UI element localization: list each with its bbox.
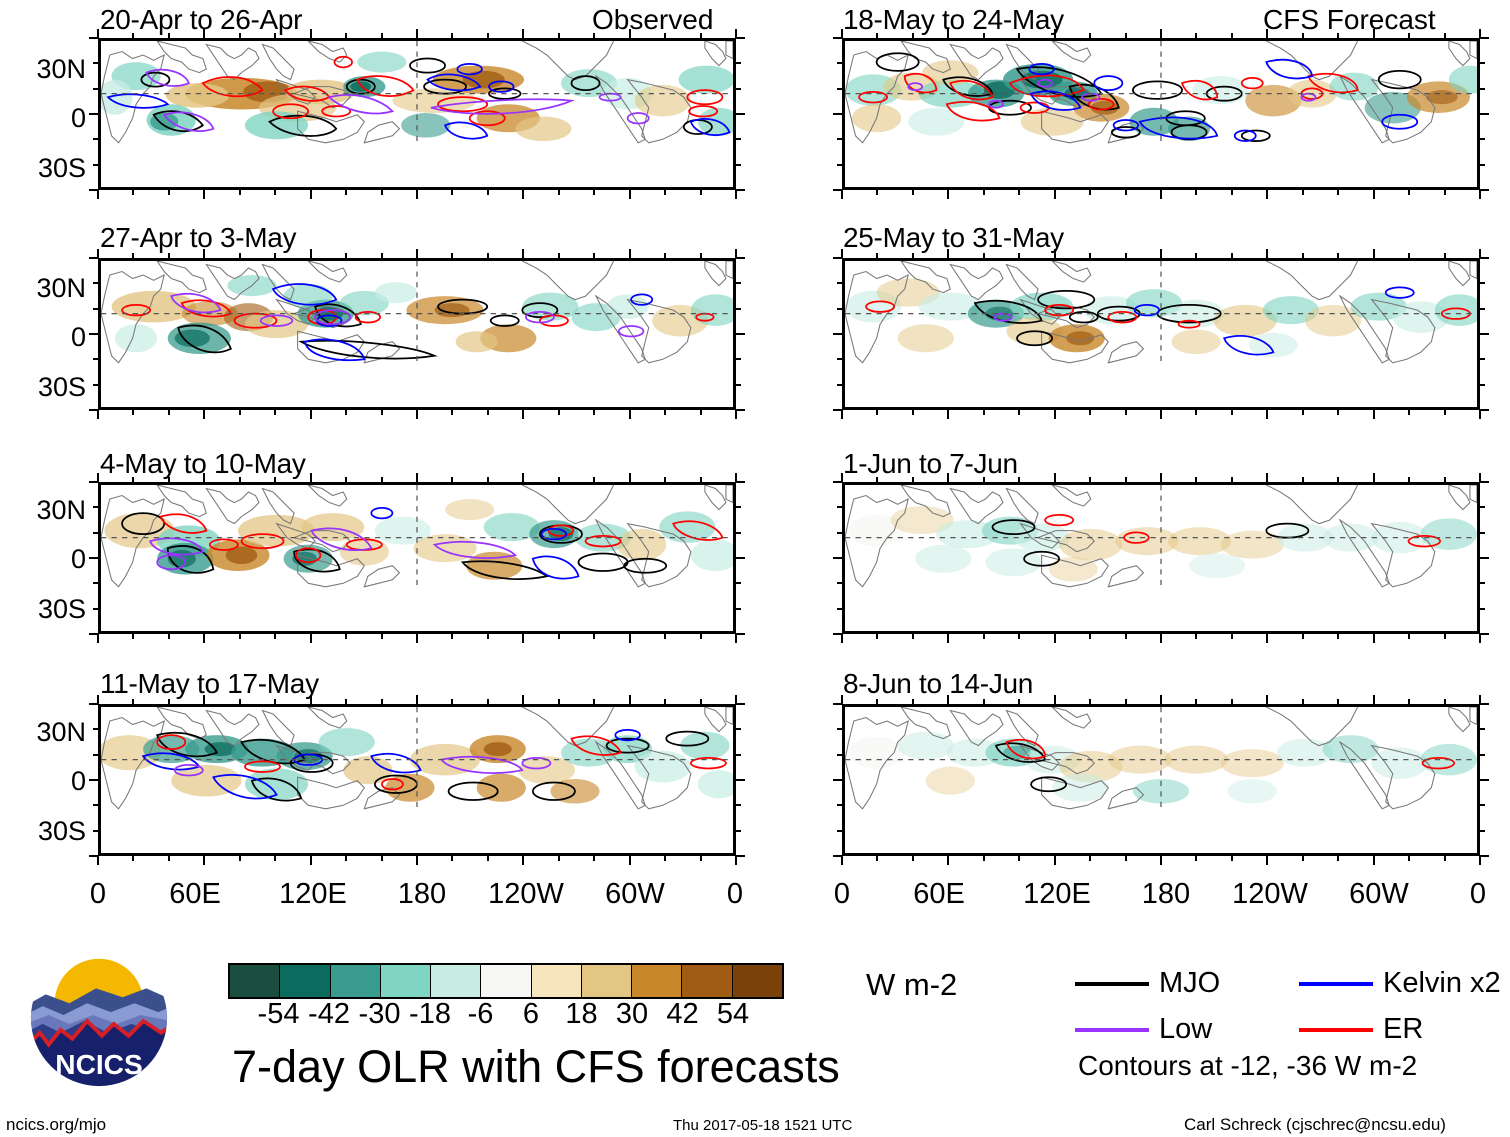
axis-tick bbox=[345, 856, 347, 861]
axis-tick bbox=[93, 754, 98, 756]
axis-tick bbox=[522, 190, 524, 199]
y-tick-30n-row2: 30N bbox=[8, 275, 86, 302]
axis-tick bbox=[700, 634, 702, 639]
axis-tick bbox=[983, 410, 985, 415]
axis-tick bbox=[381, 856, 383, 861]
axis-tick bbox=[168, 634, 170, 639]
axis-tick bbox=[1160, 695, 1162, 704]
axis-tick bbox=[841, 190, 843, 199]
x-tick-right-180: 180 bbox=[1126, 880, 1206, 909]
x-tick-right-60e: 60E bbox=[899, 880, 979, 909]
axis-tick bbox=[381, 477, 383, 482]
colorbar-tick-42: 42 bbox=[666, 1000, 698, 1029]
axis-tick bbox=[274, 477, 276, 482]
axis-tick bbox=[736, 703, 745, 705]
axis-tick bbox=[451, 253, 453, 258]
axis-tick bbox=[1480, 855, 1489, 857]
axis-tick bbox=[274, 634, 276, 639]
axis-tick bbox=[1160, 29, 1162, 38]
axis-tick bbox=[345, 33, 347, 38]
panel-title-fcst-1: 18-May to 24-May bbox=[843, 6, 1064, 34]
axis-tick bbox=[736, 582, 741, 584]
axis-tick bbox=[381, 634, 383, 639]
axis-tick bbox=[1408, 477, 1410, 482]
axis-tick bbox=[1480, 779, 1489, 781]
panel-title-obs-4: 11-May to 17-May bbox=[100, 670, 319, 698]
axis-tick bbox=[837, 608, 842, 610]
column-header-observed: Observed bbox=[592, 6, 713, 34]
colorbar-cell bbox=[632, 965, 682, 997]
axis-tick bbox=[93, 830, 98, 832]
axis-tick bbox=[736, 409, 745, 411]
axis-tick bbox=[203, 856, 205, 865]
axis-tick bbox=[736, 855, 745, 857]
x-tick-left-120e: 120E bbox=[263, 880, 363, 909]
axis-tick bbox=[93, 138, 98, 140]
axis-tick bbox=[274, 33, 276, 38]
axis-tick bbox=[522, 473, 524, 482]
axis-tick bbox=[487, 634, 489, 639]
axis-tick bbox=[1373, 856, 1375, 865]
map-panel-fcst-3 bbox=[842, 482, 1480, 634]
axis-tick bbox=[629, 410, 631, 419]
axis-tick bbox=[1444, 410, 1446, 415]
axis-tick bbox=[736, 804, 741, 806]
axis-tick bbox=[1231, 699, 1233, 704]
axis-tick bbox=[558, 253, 560, 258]
axis-tick bbox=[1018, 699, 1020, 704]
axis-tick bbox=[1444, 856, 1446, 861]
axis-tick bbox=[983, 856, 985, 861]
axis-tick bbox=[629, 473, 631, 482]
axis-tick bbox=[274, 190, 276, 195]
panel-title-obs-1: 20-Apr to 26-Apr bbox=[100, 6, 302, 34]
axis-tick bbox=[93, 308, 98, 310]
axis-tick bbox=[1480, 728, 1485, 730]
x-tick-right-0-end: 0 bbox=[1458, 880, 1498, 909]
axis-tick bbox=[837, 308, 842, 310]
legend-swatch-mjo bbox=[1075, 982, 1149, 986]
axis-tick bbox=[132, 33, 134, 38]
axis-tick bbox=[736, 557, 745, 559]
axis-tick bbox=[1480, 189, 1489, 191]
colorbar-cell bbox=[431, 965, 481, 997]
axis-tick bbox=[1054, 695, 1056, 704]
colorbar-cell bbox=[381, 965, 431, 997]
axis-tick bbox=[947, 634, 949, 643]
axis-tick bbox=[203, 634, 205, 643]
colorbar-cell bbox=[733, 965, 782, 997]
axis-tick bbox=[558, 477, 560, 482]
y-tick-30s-row3: 30S bbox=[8, 596, 86, 623]
axis-tick bbox=[841, 856, 843, 865]
axis-tick bbox=[1408, 253, 1410, 258]
axis-tick bbox=[876, 634, 878, 639]
axis-tick bbox=[1480, 633, 1489, 635]
axis-tick bbox=[1408, 33, 1410, 38]
axis-tick bbox=[1266, 695, 1268, 704]
colorbar-tick-18: 18 bbox=[565, 1000, 597, 1029]
colorbar-cell bbox=[481, 965, 531, 997]
y-tick-0-row1: 0 bbox=[8, 105, 86, 132]
axis-tick bbox=[1054, 473, 1056, 482]
axis-tick bbox=[93, 358, 98, 360]
axis-tick bbox=[876, 253, 878, 258]
colorbar-tick--30: -30 bbox=[359, 1000, 401, 1029]
axis-tick bbox=[1231, 33, 1233, 38]
axis-tick bbox=[736, 333, 745, 335]
axis-tick bbox=[947, 249, 949, 258]
axis-tick bbox=[912, 33, 914, 38]
axis-tick bbox=[274, 856, 276, 861]
legend-swatch-low bbox=[1075, 1028, 1149, 1032]
axis-tick bbox=[1266, 410, 1268, 419]
legend-label-low: Low bbox=[1159, 1015, 1212, 1044]
axis-tick bbox=[1018, 190, 1020, 195]
colorbar-tick--42: -42 bbox=[308, 1000, 350, 1029]
axis-tick bbox=[1302, 410, 1304, 415]
axis-tick bbox=[416, 29, 418, 38]
axis-tick bbox=[1160, 249, 1162, 258]
axis-tick bbox=[1408, 856, 1410, 861]
axis-tick bbox=[1195, 253, 1197, 258]
axis-tick bbox=[1160, 410, 1162, 419]
axis-tick bbox=[1337, 410, 1339, 415]
axis-tick bbox=[833, 409, 842, 411]
axis-tick bbox=[93, 728, 98, 730]
colorbar bbox=[228, 963, 784, 999]
x-tick-left-0-end: 0 bbox=[715, 880, 755, 909]
y-tick-30s-row2: 30S bbox=[8, 374, 86, 401]
axis-tick bbox=[345, 190, 347, 195]
axis-tick bbox=[93, 582, 98, 584]
axis-tick bbox=[664, 634, 666, 639]
axis-tick bbox=[97, 856, 99, 865]
colorbar-tick-30: 30 bbox=[616, 1000, 648, 1029]
axis-tick bbox=[664, 477, 666, 482]
legend-label-er: ER bbox=[1383, 1015, 1423, 1044]
axis-tick bbox=[841, 410, 843, 419]
axis-tick bbox=[736, 88, 741, 90]
axis-tick bbox=[89, 779, 98, 781]
y-tick-0-row3: 0 bbox=[8, 546, 86, 573]
axis-tick bbox=[1195, 190, 1197, 195]
axis-tick bbox=[239, 699, 241, 704]
y-tick-0-row4: 0 bbox=[8, 768, 86, 795]
axis-tick bbox=[1479, 856, 1481, 865]
axis-tick bbox=[876, 190, 878, 195]
axis-tick bbox=[97, 634, 99, 643]
legend-item-kelvin: Kelvin x2 bbox=[1299, 969, 1501, 998]
axis-tick bbox=[89, 409, 98, 411]
axis-tick bbox=[1480, 358, 1485, 360]
axis-tick bbox=[1054, 634, 1056, 643]
legend-label-mjo: MJO bbox=[1159, 969, 1220, 998]
axis-tick bbox=[1054, 29, 1056, 38]
axis-tick bbox=[203, 410, 205, 419]
axis-tick bbox=[664, 33, 666, 38]
axis-tick bbox=[522, 249, 524, 258]
axis-tick bbox=[168, 699, 170, 704]
axis-tick bbox=[1160, 856, 1162, 865]
axis-tick bbox=[239, 253, 241, 258]
axis-tick bbox=[736, 532, 741, 534]
axis-tick bbox=[93, 384, 98, 386]
axis-tick bbox=[912, 477, 914, 482]
axis-tick bbox=[664, 856, 666, 861]
axis-tick bbox=[274, 253, 276, 258]
axis-tick bbox=[837, 138, 842, 140]
x-tick-right-120e: 120E bbox=[1007, 880, 1107, 909]
axis-tick bbox=[736, 779, 745, 781]
axis-tick bbox=[487, 699, 489, 704]
panel-title-fcst-3: 1-Jun to 7-Jun bbox=[843, 450, 1018, 478]
axis-tick bbox=[1302, 856, 1304, 861]
axis-tick bbox=[310, 29, 312, 38]
axis-tick bbox=[1480, 582, 1485, 584]
y-tick-30n-row4: 30N bbox=[8, 719, 86, 746]
x-tick-left-60w: 60W bbox=[595, 880, 675, 909]
axis-tick bbox=[1125, 477, 1127, 482]
axis-tick bbox=[1089, 477, 1091, 482]
axis-tick bbox=[1480, 804, 1485, 806]
axis-tick bbox=[1408, 410, 1410, 415]
axis-tick bbox=[700, 253, 702, 258]
axis-tick bbox=[912, 253, 914, 258]
axis-tick bbox=[1480, 88, 1485, 90]
axis-tick bbox=[629, 634, 631, 643]
axis-tick bbox=[1480, 113, 1489, 115]
axis-tick bbox=[239, 477, 241, 482]
axis-tick bbox=[735, 190, 737, 199]
axis-tick bbox=[876, 477, 878, 482]
axis-tick bbox=[381, 33, 383, 38]
axis-tick bbox=[1480, 333, 1489, 335]
axis-tick bbox=[1089, 410, 1091, 415]
axis-tick bbox=[1337, 477, 1339, 482]
axis-tick bbox=[168, 33, 170, 38]
axis-tick bbox=[736, 282, 741, 284]
axis-tick bbox=[837, 532, 842, 534]
axis-tick bbox=[736, 481, 745, 483]
axis-tick bbox=[1480, 481, 1489, 483]
axis-tick bbox=[1125, 33, 1127, 38]
axis-tick bbox=[736, 308, 741, 310]
axis-tick bbox=[1266, 856, 1268, 865]
y-tick-30n-row1: 30N bbox=[8, 56, 86, 83]
axis-tick bbox=[310, 856, 312, 865]
axis-tick bbox=[239, 856, 241, 861]
axis-tick bbox=[168, 856, 170, 861]
legend-item-er: ER bbox=[1299, 1015, 1423, 1044]
footer-website[interactable]: ncics.org/mjo bbox=[6, 1116, 106, 1133]
axis-tick bbox=[736, 164, 741, 166]
axis-tick bbox=[664, 253, 666, 258]
axis-tick bbox=[837, 384, 842, 386]
axis-tick bbox=[1373, 249, 1375, 258]
axis-tick bbox=[132, 856, 134, 861]
axis-tick bbox=[912, 410, 914, 415]
axis-tick bbox=[487, 253, 489, 258]
axis-tick bbox=[736, 257, 745, 259]
axis-tick bbox=[593, 634, 595, 639]
axis-tick bbox=[1231, 253, 1233, 258]
axis-tick bbox=[1018, 634, 1020, 639]
map-panel-obs-1 bbox=[98, 38, 736, 190]
x-tick-left-0: 0 bbox=[78, 880, 118, 909]
axis-tick bbox=[1479, 634, 1481, 643]
axis-tick bbox=[522, 695, 524, 704]
axis-tick bbox=[912, 634, 914, 639]
colorbar-tick-6: 6 bbox=[523, 1000, 539, 1029]
axis-tick bbox=[1160, 634, 1162, 643]
axis-tick bbox=[1266, 634, 1268, 643]
axis-tick bbox=[837, 62, 842, 64]
axis-tick bbox=[89, 481, 98, 483]
map-panel-obs-4 bbox=[98, 704, 736, 856]
axis-tick bbox=[310, 410, 312, 419]
axis-tick bbox=[558, 856, 560, 861]
map-panel-fcst-2 bbox=[842, 258, 1480, 410]
axis-tick bbox=[1054, 249, 1056, 258]
colorbar-units-label: W m-2 bbox=[866, 967, 957, 1003]
axis-tick bbox=[522, 410, 524, 419]
panel-title-obs-2: 27-Apr to 3-May bbox=[100, 224, 296, 252]
axis-tick bbox=[274, 699, 276, 704]
x-tick-left-120w: 120W bbox=[476, 880, 576, 909]
axis-tick bbox=[1479, 410, 1481, 419]
axis-tick bbox=[629, 249, 631, 258]
colorbar-tick--18: -18 bbox=[409, 1000, 451, 1029]
axis-tick bbox=[1018, 477, 1020, 482]
axis-tick bbox=[735, 634, 737, 643]
axis-tick bbox=[1231, 190, 1233, 195]
axis-tick bbox=[736, 754, 741, 756]
axis-tick bbox=[416, 695, 418, 704]
axis-tick bbox=[310, 249, 312, 258]
y-tick-30n-row3: 30N bbox=[8, 497, 86, 524]
axis-tick bbox=[1480, 62, 1485, 64]
axis-tick bbox=[239, 634, 241, 639]
axis-tick bbox=[558, 699, 560, 704]
axis-tick bbox=[983, 190, 985, 195]
axis-tick bbox=[876, 856, 878, 861]
axis-tick bbox=[1480, 532, 1485, 534]
axis-tick bbox=[947, 29, 949, 38]
axis-tick bbox=[912, 856, 914, 861]
axis-tick bbox=[1337, 699, 1339, 704]
axis-tick bbox=[912, 190, 914, 195]
axis-tick bbox=[310, 695, 312, 704]
axis-tick bbox=[1373, 190, 1375, 199]
axis-tick bbox=[1302, 253, 1304, 258]
axis-tick bbox=[381, 190, 383, 195]
axis-tick bbox=[837, 88, 842, 90]
axis-tick bbox=[487, 410, 489, 415]
axis-tick bbox=[983, 253, 985, 258]
axis-tick bbox=[487, 477, 489, 482]
axis-tick bbox=[1089, 33, 1091, 38]
axis-tick bbox=[593, 33, 595, 38]
footer-timestamp: Thu 2017-05-18 1521 UTC bbox=[673, 1118, 852, 1133]
axis-tick bbox=[629, 695, 631, 704]
axis-tick bbox=[1302, 699, 1304, 704]
axis-tick bbox=[93, 88, 98, 90]
axis-tick bbox=[132, 410, 134, 415]
axis-tick bbox=[1480, 506, 1485, 508]
axis-tick bbox=[451, 410, 453, 415]
axis-tick bbox=[416, 473, 418, 482]
axis-tick bbox=[89, 557, 98, 559]
axis-tick bbox=[1160, 190, 1162, 199]
axis-tick bbox=[93, 282, 98, 284]
contour-note: Contours at -12, -36 W m-2 bbox=[1078, 1050, 1417, 1082]
axis-tick bbox=[203, 473, 205, 482]
axis-tick bbox=[1089, 856, 1091, 861]
axis-tick bbox=[132, 477, 134, 482]
axis-tick bbox=[629, 29, 631, 38]
colorbar-tick--54: -54 bbox=[258, 1000, 300, 1029]
axis-tick bbox=[1195, 477, 1197, 482]
logo-text: NCICS bbox=[55, 1049, 142, 1080]
axis-tick bbox=[1302, 634, 1304, 639]
axis-tick bbox=[451, 33, 453, 38]
colorbar-tick--6: -6 bbox=[468, 1000, 494, 1029]
axis-tick bbox=[451, 634, 453, 639]
axis-tick bbox=[1480, 754, 1485, 756]
axis-tick bbox=[1018, 410, 1020, 415]
axis-tick bbox=[345, 253, 347, 258]
legend-item-low: Low bbox=[1075, 1015, 1212, 1044]
axis-tick bbox=[93, 608, 98, 610]
axis-tick bbox=[837, 506, 842, 508]
axis-tick bbox=[97, 410, 99, 419]
axis-tick bbox=[629, 856, 631, 865]
axis-tick bbox=[876, 33, 878, 38]
x-tick-right-0: 0 bbox=[822, 880, 862, 909]
axis-tick bbox=[1408, 190, 1410, 195]
axis-tick bbox=[1266, 29, 1268, 38]
axis-tick bbox=[833, 257, 842, 259]
axis-tick bbox=[664, 190, 666, 195]
axis-tick bbox=[736, 37, 745, 39]
axis-tick bbox=[1266, 473, 1268, 482]
axis-tick bbox=[983, 634, 985, 639]
axis-tick bbox=[700, 477, 702, 482]
axis-tick bbox=[837, 830, 842, 832]
axis-tick bbox=[558, 33, 560, 38]
x-tick-right-60w: 60W bbox=[1339, 880, 1419, 909]
axis-tick bbox=[876, 410, 878, 415]
axis-tick bbox=[593, 410, 595, 415]
map-panel-obs-2 bbox=[98, 258, 736, 410]
axis-tick bbox=[522, 634, 524, 643]
footer-author[interactable]: Carl Schreck (cjschrec@ncsu.edu) bbox=[1184, 1116, 1446, 1133]
axis-tick bbox=[736, 138, 741, 140]
panel-title-fcst-4: 8-Jun to 14-Jun bbox=[843, 670, 1033, 698]
axis-tick bbox=[381, 253, 383, 258]
axis-tick bbox=[1125, 253, 1127, 258]
axis-tick bbox=[983, 699, 985, 704]
axis-tick bbox=[89, 189, 98, 191]
axis-tick bbox=[451, 699, 453, 704]
axis-tick bbox=[1089, 634, 1091, 639]
axis-tick bbox=[416, 190, 418, 199]
axis-tick bbox=[1373, 473, 1375, 482]
axis-tick bbox=[1125, 634, 1127, 639]
colorbar-cell bbox=[532, 965, 582, 997]
axis-tick bbox=[735, 856, 737, 865]
